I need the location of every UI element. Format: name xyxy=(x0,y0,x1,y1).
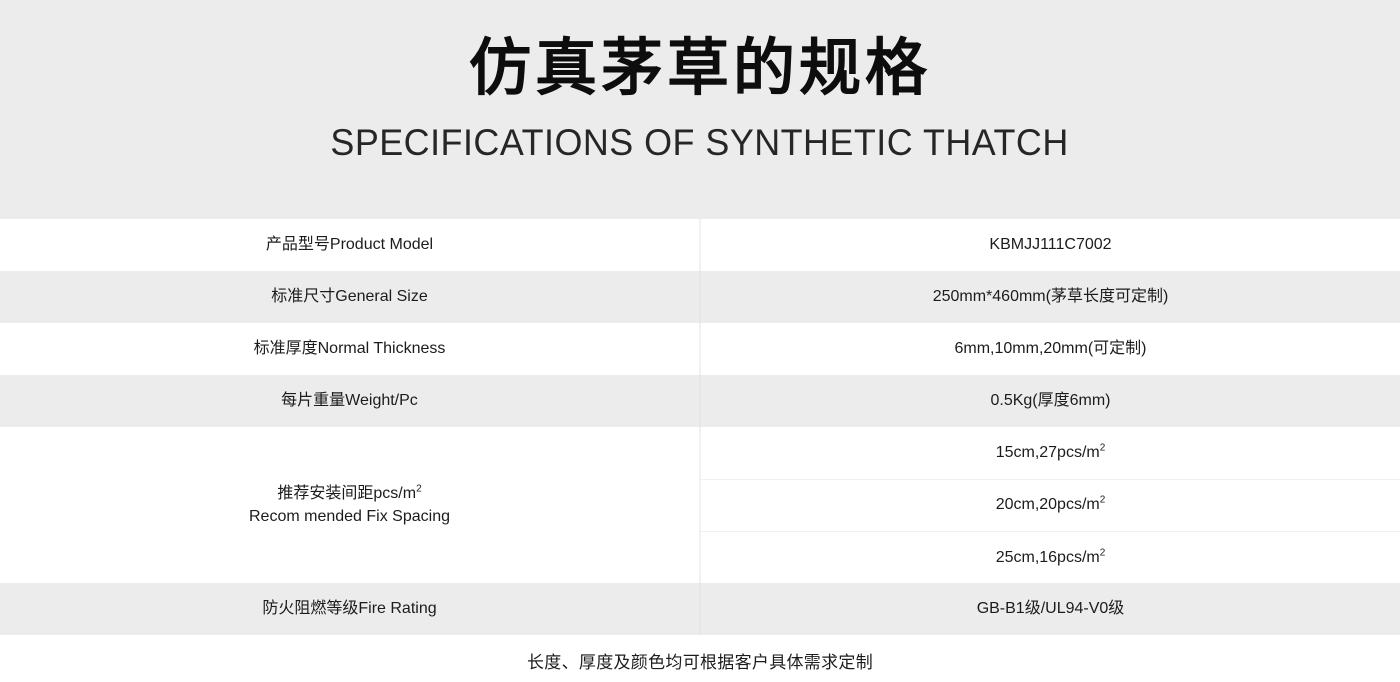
spec-value-weight-per-pc: 0.5Kg(厚度6mm) xyxy=(700,375,1400,427)
spec-label-general-size: 标准尺寸General Size xyxy=(0,271,700,323)
superscript-square-icon: 2 xyxy=(1100,495,1106,506)
specifications-table: 产品型号Product Model KBMJJ111C7002 标准尺寸Gene… xyxy=(0,219,1400,635)
superscript-square-icon: 2 xyxy=(1100,547,1106,558)
table-row: 推荐安装间距pcs/m2 Recom mended Fix Spacing 15… xyxy=(0,427,1400,479)
spec-label-fix-spacing-text: 推荐安装间距pcs/m xyxy=(277,485,416,502)
spec-value-product-model: KBMJJ111C7002 xyxy=(700,219,1400,271)
spec-label-fix-spacing: 推荐安装间距pcs/m2 Recom mended Fix Spacing xyxy=(0,427,700,583)
page-title-english: SPECIFICATIONS OF SYNTHETIC THATCH xyxy=(331,123,1069,164)
spec-label-fix-spacing-line-1: 推荐安装间距pcs/m2 xyxy=(10,482,689,505)
spacing-value-text-3: 25cm,16pcs/m xyxy=(996,549,1100,566)
table-row: 标准尺寸General Size 250mm*460mm(茅草长度可定制) xyxy=(0,271,1400,323)
spec-label-fire-rating: 防火阻燃等级Fire Rating xyxy=(0,583,700,635)
superscript-square-icon: 2 xyxy=(1100,443,1106,454)
footer-note: 长度、厚度及颜色均可根据客户具体需求定制 xyxy=(0,635,1400,682)
spec-value-general-size: 250mm*460mm(茅草长度可定制) xyxy=(700,271,1400,323)
spec-value-normal-thickness: 6mm,10mm,20mm(可定制) xyxy=(700,323,1400,375)
spacing-value-text-2: 20cm,20pcs/m xyxy=(996,496,1100,513)
spec-value-fire-rating: GB-B1级/UL94-V0级 xyxy=(700,583,1400,635)
table-row: 产品型号Product Model KBMJJ111C7002 xyxy=(0,219,1400,271)
spec-label-fix-spacing-line-2: Recom mended Fix Spacing xyxy=(10,505,689,528)
specification-page: 仿真茅草的规格 SPECIFICATIONS OF SYNTHETIC THAT… xyxy=(0,0,1400,682)
spec-label-weight-per-pc: 每片重量Weight/Pc xyxy=(0,375,700,427)
spec-label-normal-thickness: 标准厚度Normal Thickness xyxy=(0,323,700,375)
superscript-square-icon: 2 xyxy=(416,483,422,494)
spec-value-spacing-25cm: 25cm,16pcs/m2 xyxy=(700,531,1400,583)
table-row: 每片重量Weight/Pc 0.5Kg(厚度6mm) xyxy=(0,375,1400,427)
page-title-chinese: 仿真茅草的规格 xyxy=(469,34,931,103)
spacing-value-text-1: 15cm,27pcs/m xyxy=(996,444,1100,461)
spec-label-product-model: 产品型号Product Model xyxy=(0,219,700,271)
table-row: 标准厚度Normal Thickness 6mm,10mm,20mm(可定制) xyxy=(0,323,1400,375)
page-header: 仿真茅草的规格 SPECIFICATIONS OF SYNTHETIC THAT… xyxy=(0,0,1400,219)
spec-value-spacing-20cm: 20cm,20pcs/m2 xyxy=(700,479,1400,531)
table-row: 防火阻燃等级Fire Rating GB-B1级/UL94-V0级 xyxy=(0,583,1400,635)
spec-value-spacing-15cm: 15cm,27pcs/m2 xyxy=(700,427,1400,479)
